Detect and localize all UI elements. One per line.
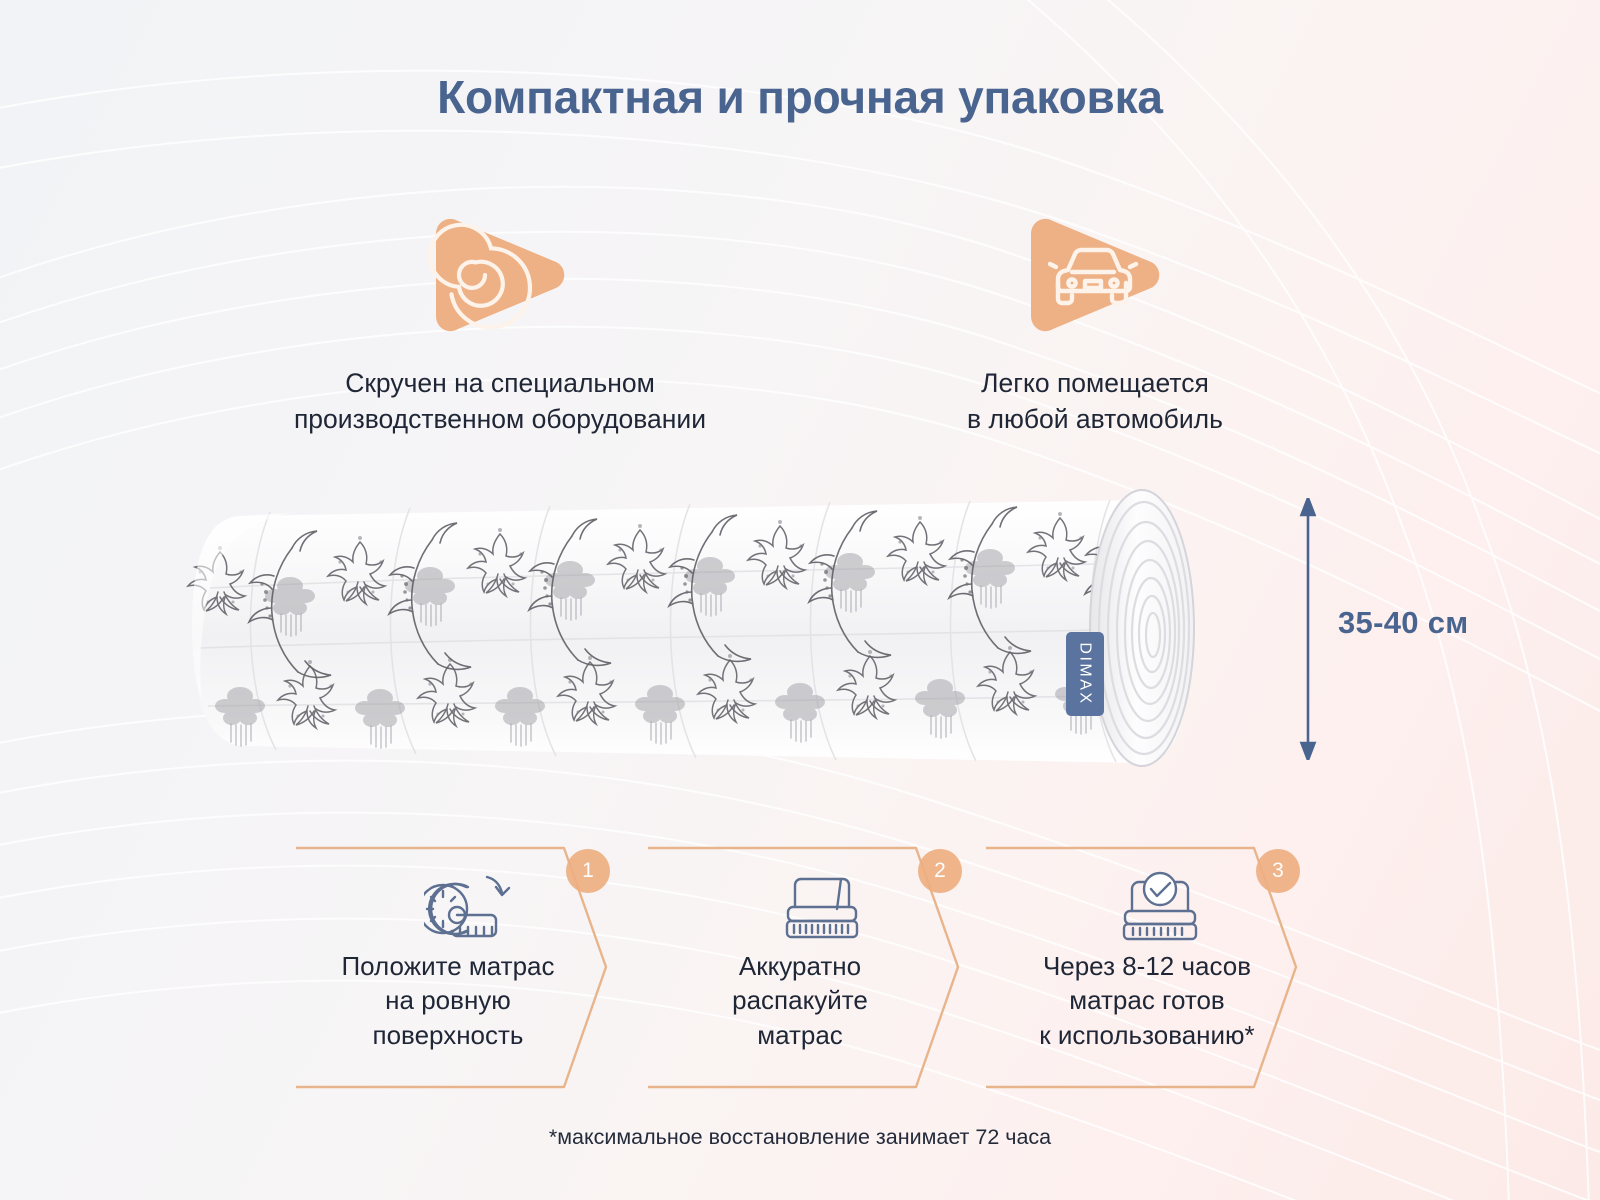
step-label: Положите матрас на ровную поверхность xyxy=(310,949,586,1052)
mattress-icon xyxy=(648,871,996,943)
rolled-mattress-image: DIMAX xyxy=(180,478,1255,783)
feature-caption: Скручен на специальном производственном … xyxy=(215,366,785,438)
infographic-canvas: Компактная и прочная упаковка Скручен на… xyxy=(0,0,1600,1200)
spiral-roll-icon xyxy=(425,205,575,345)
unroll-mattress-icon xyxy=(296,871,644,945)
footnote: *максимальное восстановление занимает 72… xyxy=(0,1125,1600,1150)
steps-row: 1 Положите матрас на ровную поверхно xyxy=(296,845,1308,1090)
dimension-label: 35-40 см xyxy=(1338,605,1468,641)
feature-icon-wrap xyxy=(885,200,1305,350)
dimension-arrow xyxy=(1288,498,1328,760)
feature-fits-in-car: Легко помещается в любой автомобиль xyxy=(885,200,1305,438)
feature-icon-wrap xyxy=(215,200,785,350)
step-label: Через 8-12 часов матрас готов к использо… xyxy=(1006,949,1288,1052)
step-card-1[interactable]: 1 Положите матрас на ровную поверхно xyxy=(296,845,644,1090)
step-card-3[interactable]: 3 Через 8-12 часов матрас готов к исполь… xyxy=(986,845,1334,1090)
page-title: Компактная и прочная упаковка xyxy=(0,70,1600,124)
feature-caption: Легко помещается в любой автомобиль xyxy=(885,366,1305,438)
brand-tag: DIMAX xyxy=(1066,632,1104,716)
feature-rolled-on-equipment: Скручен на специальном производственном … xyxy=(215,200,785,438)
step-label: Аккуратно распакуйте матрас xyxy=(662,949,938,1052)
car-icon xyxy=(1020,205,1170,345)
svg-text:DIMAX: DIMAX xyxy=(1077,642,1094,705)
mattress-check-icon xyxy=(986,871,1334,945)
step-card-2[interactable]: 2 Аккуратно распакуйте матрас xyxy=(648,845,996,1090)
